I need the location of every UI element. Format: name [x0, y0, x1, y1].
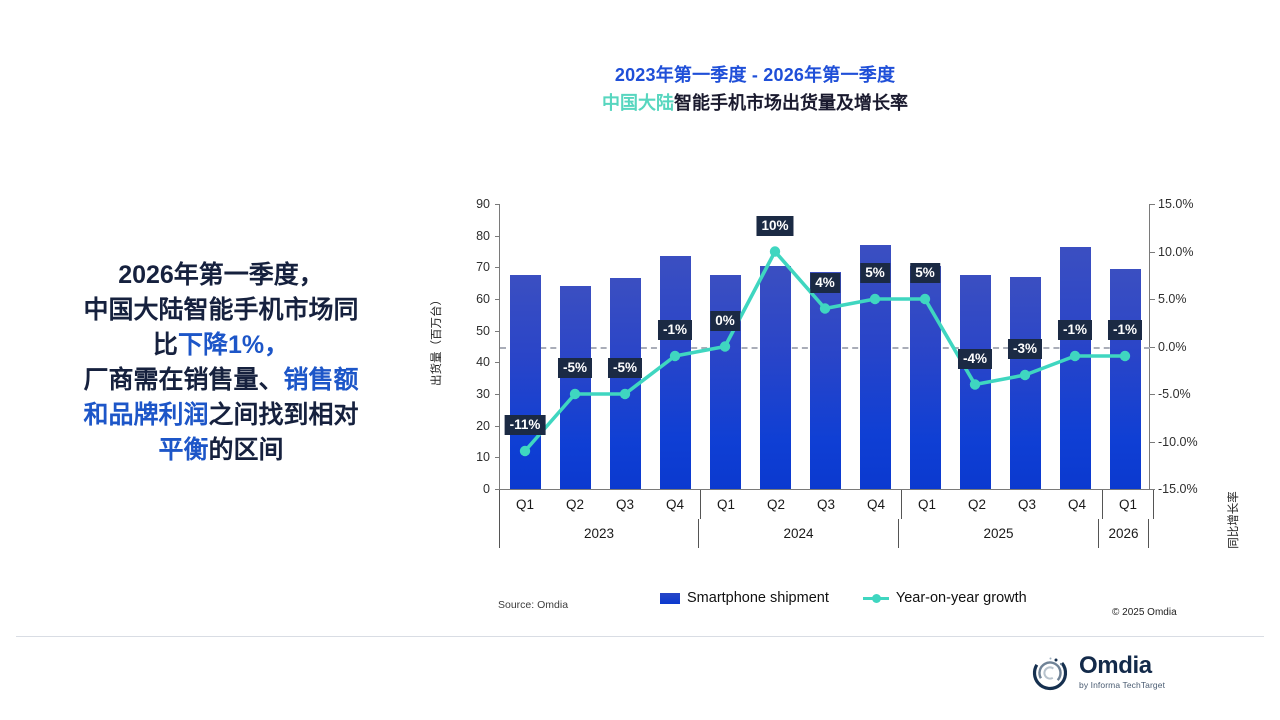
data-label: -1% [1058, 320, 1092, 340]
y-axis-left-tick-label: 90 [438, 197, 490, 211]
data-label: -5% [558, 358, 592, 378]
x-axis-quarter-row: Q1Q2Q3Q4Q1Q2Q3Q4Q1Q2Q3Q4Q1 [499, 490, 1150, 519]
omdia-logo-text: Omdia by Informa TechTarget [1079, 654, 1165, 690]
title-line-1: 2023年第一季度 - 2026年第一季度 [460, 62, 1050, 88]
chart-legend: Smartphone shipment Year-on-year growth [660, 590, 1027, 606]
data-label: 4% [810, 273, 840, 293]
data-label: -1% [658, 320, 692, 340]
data-label: -5% [608, 358, 642, 378]
x-axis-year-label: 2026 [1099, 519, 1149, 548]
x-axis-quarter-label: Q1 [500, 490, 550, 519]
growth-line-marker [770, 246, 780, 256]
x-axis-quarter-label: Q2 [952, 490, 1002, 519]
callout-line-6-blue: 平衡 [158, 436, 208, 464]
x-axis: Q1Q2Q3Q4Q1Q2Q3Q4Q1Q2Q3Q4Q1 2023202420252… [499, 490, 1150, 548]
chart-area: 0102030405060708090 -15.0%-10.0%-5.0%0.0… [430, 190, 1240, 560]
callout-text: 2026年第一季度， 中国大陆智能手机市场同 比下降1%， 厂商需在销售量、销售… [16, 258, 426, 468]
plot-area: -11%-5%-5%-1%0%10%4%5%5%-4%-3%-1%-1% [500, 204, 1150, 489]
x-axis-quarter-group: Q1Q2Q3Q4 [902, 490, 1103, 519]
y-axis-left-tick-label: 60 [438, 292, 490, 306]
y-axis-right-label: 同比增长率 [1225, 460, 1241, 580]
x-axis-quarter-label: Q1 [1103, 490, 1153, 519]
legend-line-swatch-icon [863, 593, 889, 604]
callout-line-4: 厂商需在销售量、销售额 [16, 363, 426, 398]
y-axis-left-label: 出货量（百万台） [428, 280, 444, 400]
legend-item-shipment: Smartphone shipment [660, 590, 829, 606]
line-series [500, 204, 1150, 489]
omdia-logo: Omdia by Informa TechTarget [1030, 652, 1165, 692]
callout-line-5-blue: 和品牌利润 [83, 401, 208, 429]
title-line-2: 中国大陆智能手机市场出货量及增长率 [460, 90, 1050, 116]
x-axis-quarter-group: Q1Q2Q3Q4 [701, 490, 902, 519]
x-axis-quarter-group: Q1 [1103, 490, 1154, 519]
callout-line-3: 比下降1%， [16, 328, 426, 363]
source-note: Source: Omdia [498, 599, 568, 611]
x-axis-quarter-label: Q3 [1002, 490, 1052, 519]
y-axis-right-tick-label: -15.0% [1158, 482, 1198, 496]
legend-label-growth: Year-on-year growth [896, 590, 1027, 606]
y-axis-left-tick-label: 50 [438, 324, 490, 338]
x-axis-quarter-label: Q3 [600, 490, 650, 519]
x-axis-quarter-label: Q1 [902, 490, 952, 519]
x-axis-quarter-label: Q4 [650, 490, 700, 519]
x-axis-year-label: 2024 [699, 519, 899, 548]
callout-line-3-blue: 下降1%， [178, 331, 289, 359]
y-axis-right-tick-mark [1150, 252, 1155, 253]
y-axis-left-tick-label: 20 [438, 419, 490, 433]
y-axis-right-tick-mark [1150, 347, 1155, 348]
slide-root: 2023年第一季度 - 2026年第一季度 中国大陆智能手机市场出货量及增长率 … [0, 0, 1280, 720]
legend-label-shipment: Smartphone shipment [687, 590, 829, 606]
callout-line-1: 2026年第一季度， [16, 258, 426, 293]
x-axis-year-row: 2023202420252026 [499, 519, 1150, 548]
callout-line-5: 和品牌利润之间找到相对 [16, 398, 426, 433]
y-axis-right-tick-label: -5.0% [1158, 387, 1191, 401]
growth-line-marker [670, 351, 680, 361]
x-axis-quarter-group: Q1Q2Q3Q4 [499, 490, 701, 519]
y-axis-left-tick-label: 10 [438, 450, 490, 464]
growth-line-marker [570, 389, 580, 399]
y-axis-right-tick-mark [1150, 442, 1155, 443]
data-label: -4% [958, 349, 992, 369]
y-axis-right-tick-label: 15.0% [1158, 197, 1193, 211]
y-axis-right-tick-label: 10.0% [1158, 245, 1193, 259]
growth-line-marker [1020, 370, 1030, 380]
footer-divider [16, 636, 1264, 637]
y-axis-left-tick-label: 30 [438, 387, 490, 401]
data-label: 5% [910, 263, 940, 283]
callout-line-3-dark: 比 [153, 331, 178, 359]
y-axis-right-tick-label: 5.0% [1158, 292, 1187, 306]
y-axis-right-tick-mark [1150, 204, 1155, 205]
y-axis-right-tick-label: -10.0% [1158, 435, 1198, 449]
y-axis-right-tick-mark [1150, 299, 1155, 300]
growth-line-marker [520, 446, 530, 456]
legend-item-growth: Year-on-year growth [863, 590, 1027, 606]
callout-line-6-dark: 的区间 [209, 436, 284, 464]
omdia-swirl-icon [1030, 652, 1070, 692]
data-label: 10% [756, 216, 793, 236]
callout-line-5-dark: 之间找到相对 [209, 401, 359, 429]
growth-line-marker [870, 294, 880, 304]
growth-line-marker [1070, 351, 1080, 361]
title-rest: 智能手机市场出货量及增长率 [674, 93, 908, 113]
y-axis-left-tick-label: 70 [438, 260, 490, 274]
x-axis-year-label: 2023 [499, 519, 699, 548]
omdia-logo-name: Omdia [1079, 654, 1165, 678]
x-axis-quarter-label: Q2 [751, 490, 801, 519]
y-axis-right-tick-label: 0.0% [1158, 340, 1187, 354]
y-axis-left-tick-label: 0 [438, 482, 490, 496]
y-axis-left-tick-label: 40 [438, 355, 490, 369]
growth-line-marker [970, 379, 980, 389]
x-axis-quarter-label: Q1 [701, 490, 751, 519]
data-label: -1% [1108, 320, 1142, 340]
data-label: 5% [860, 263, 890, 283]
x-axis-quarter-label: Q4 [1052, 490, 1102, 519]
x-axis-quarter-label: Q2 [550, 490, 600, 519]
legend-bar-swatch-icon [660, 593, 680, 604]
growth-line-marker [1120, 351, 1130, 361]
omdia-logo-tagline: by Informa TechTarget [1079, 681, 1165, 690]
x-axis-year-label: 2025 [899, 519, 1099, 548]
y-axis-right-tick-mark [1150, 394, 1155, 395]
chart-title-block: 2023年第一季度 - 2026年第一季度 中国大陆智能手机市场出货量及增长率 [460, 62, 1050, 116]
growth-line-marker [920, 294, 930, 304]
data-label: -3% [1008, 339, 1042, 359]
callout-line-4-blue: 销售额 [284, 366, 359, 394]
data-label: -11% [505, 415, 546, 435]
title-highlight: 中国大陆 [602, 93, 674, 113]
x-axis-quarter-label: Q3 [801, 490, 851, 519]
copyright-note: © 2025 Omdia [1112, 607, 1177, 618]
y-axis-left-tick-label: 80 [438, 229, 490, 243]
growth-line-marker [720, 341, 730, 351]
growth-line-marker [620, 389, 630, 399]
x-axis-quarter-label: Q4 [851, 490, 901, 519]
callout-line-2: 中国大陆智能手机市场同 [16, 293, 426, 328]
growth-line-marker [820, 303, 830, 313]
data-label: 0% [710, 311, 740, 331]
callout-line-4-dark: 厂商需在销售量、 [83, 366, 283, 394]
callout-line-6: 平衡的区间 [16, 433, 426, 468]
